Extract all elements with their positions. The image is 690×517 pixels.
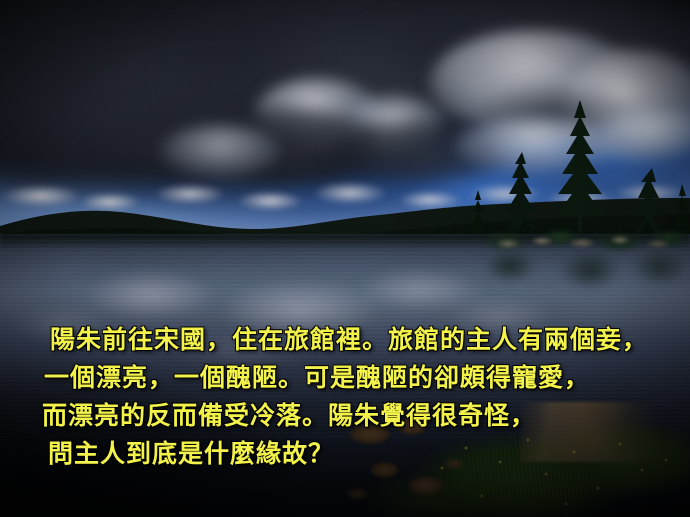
- caption-line-2: 一個漂亮，一個醜陋。可是醜陋的卻頗得寵愛，: [0, 360, 690, 398]
- photo-slide: 陽朱前往宋國，住在旅館裡。旅館的主人有兩個妾， 一個漂亮，一個醜陋。可是醜陋的卻…: [0, 0, 690, 517]
- caption-block: 陽朱前往宋國，住在旅館裡。旅館的主人有兩個妾， 一個漂亮，一個醜陋。可是醜陋的卻…: [0, 322, 690, 474]
- caption-line-3: 而漂亮的反而備受冷落。陽朱覺得很奇怪，: [0, 398, 690, 436]
- caption-line-1: 陽朱前往宋國，住在旅館裡。旅館的主人有兩個妾，: [0, 322, 690, 360]
- caption-line-4: 問主人到底是什麼緣故？: [0, 436, 690, 474]
- shore-reflection: [470, 250, 690, 310]
